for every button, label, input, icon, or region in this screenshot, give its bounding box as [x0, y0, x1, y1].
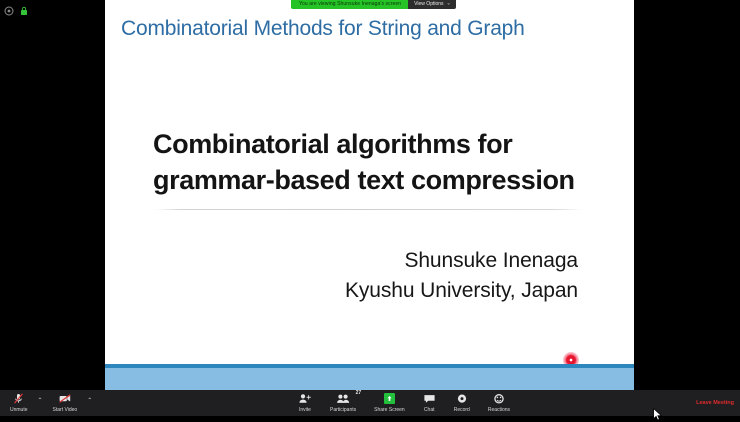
people-icon [336, 392, 351, 405]
toolbar-left-group: Unmute ⌃ Start Video ⌃ [0, 390, 96, 416]
reactions-icon [493, 392, 505, 405]
invite-button[interactable]: Invite [289, 390, 321, 418]
window-status-icons [4, 3, 29, 13]
chevron-down-icon: ⌄ [447, 2, 451, 7]
meeting-toolbar: Unmute ⌃ Start Video ⌃ [0, 390, 740, 416]
screen-share-banner: You are viewing Shunsuke Inenaga's scree… [291, 0, 456, 9]
invite-label: Invite [299, 406, 311, 414]
record-button[interactable]: Record [445, 390, 479, 418]
participants-button[interactable]: 27 Participants [321, 390, 365, 418]
start-video-label: Start Video [53, 406, 78, 414]
record-label: Record [454, 406, 470, 414]
view-indicator-icon [4, 3, 14, 13]
slide-title-line-2: grammar-based text compression [153, 162, 633, 198]
encryption-lock-icon [19, 3, 29, 13]
slide-author-block: Shunsuke Inenaga Kyushu University, Japa… [345, 246, 578, 306]
slide-title-line-1: Combinatorial algorithms for [153, 126, 633, 162]
slide-header-text: Combinatorial Methods for String and Gra… [121, 16, 621, 42]
view-options-label: View Options [414, 0, 443, 9]
reactions-button[interactable]: Reactions [479, 390, 519, 418]
slide-author-affiliation: Kyushu University, Japan [345, 276, 578, 306]
reactions-label: Reactions [488, 406, 510, 414]
shared-screen-area[interactable]: Combinatorial Methods for String and Gra… [105, 0, 634, 395]
share-screen-button[interactable]: Share Screen [365, 390, 414, 418]
person-add-icon [298, 392, 312, 405]
chat-button[interactable]: Chat [414, 390, 445, 418]
record-circle-icon [456, 392, 468, 405]
share-screen-icon [384, 392, 395, 405]
toolbar-center-group: Invite 27 Participants [289, 390, 519, 416]
view-options-button[interactable]: View Options ⌄ [408, 0, 456, 9]
slide-title: Combinatorial algorithms for grammar-bas… [153, 126, 633, 198]
slide-author-name: Shunsuke Inenaga [345, 246, 578, 276]
share-screen-label: Share Screen [374, 406, 405, 414]
leave-meeting-button[interactable]: Leave Meeting [696, 399, 734, 407]
participants-label: Participants [330, 406, 356, 414]
video-options-caret-icon[interactable]: ⌃ [83, 387, 96, 413]
microphone-muted-icon [12, 392, 25, 405]
video-off-icon [58, 392, 72, 405]
chat-label: Chat [424, 406, 435, 414]
slide-divider [155, 209, 582, 210]
share-banner-message: You are viewing Shunsuke Inenaga's scree… [291, 0, 408, 9]
unmute-label: Unmute [10, 406, 28, 414]
start-video-button[interactable]: Start Video [47, 390, 84, 418]
audio-options-caret-icon[interactable]: ⌃ [34, 387, 47, 413]
unmute-button[interactable]: Unmute [4, 390, 34, 418]
zoom-meeting-window: You are viewing Shunsuke Inenaga's scree… [0, 0, 740, 416]
participants-count-badge: 27 [356, 390, 362, 396]
chat-bubble-icon [423, 392, 436, 405]
